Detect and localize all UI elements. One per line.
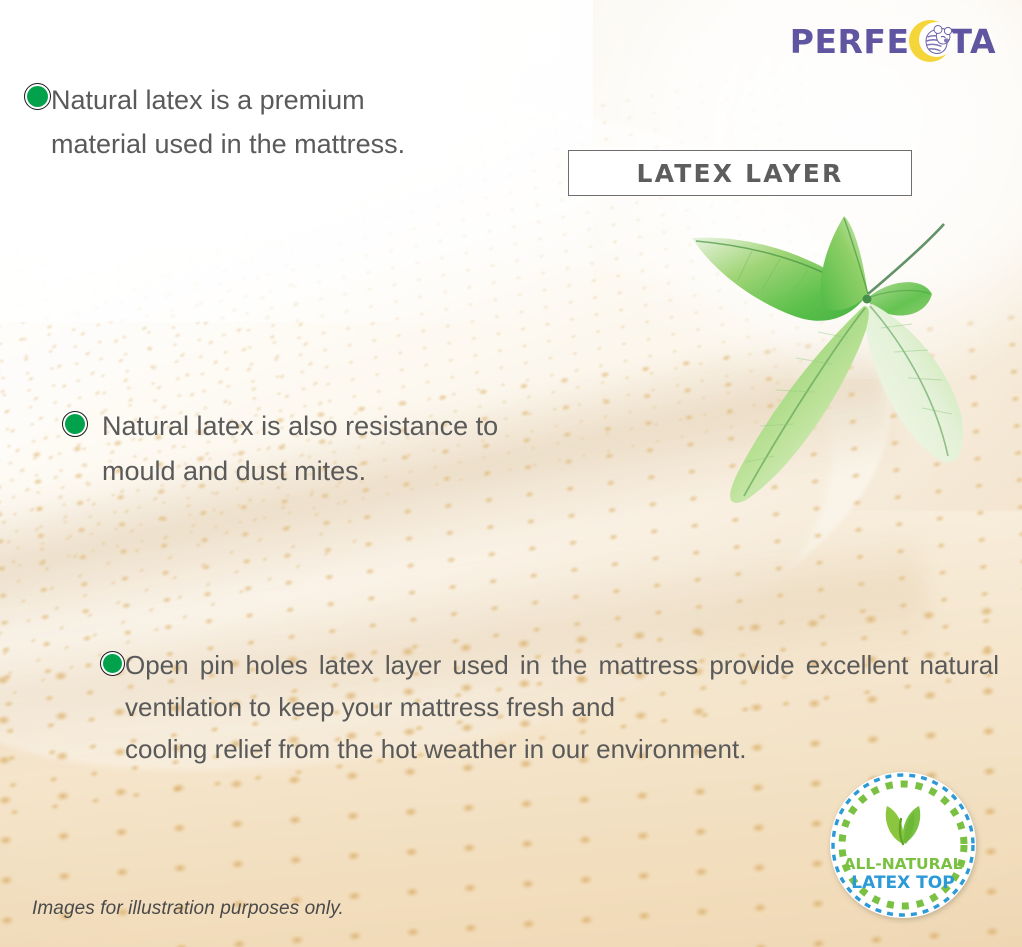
green-bullet-dot-icon <box>24 83 51 110</box>
bullet-1-line-1: Natural latex is a premium <box>51 85 365 115</box>
bullet-3-text: Open pin holes latex layer used in the m… <box>125 644 999 770</box>
all-natural-latex-top-seal-icon: ALL-NATURAL LATEX TOP <box>824 766 982 924</box>
bullet-item-1: Natural latex is a premiummaterial used … <box>24 78 504 166</box>
latex-layer-title-box: LATEX LAYER <box>568 150 912 196</box>
page-title: LATEX LAYER <box>637 159 844 188</box>
crescent-moon-sleeping-koala-icon <box>907 18 953 64</box>
latex-layer-infographic: PERFE <box>0 0 1022 947</box>
logo-text-left: PERFE <box>790 25 910 58</box>
green-bullet-dot-icon <box>62 411 88 437</box>
bullet-item-2: Natural latex is also resistance tomould… <box>62 404 612 494</box>
bullet-3-line-1: Open pin holes latex layer used in the m… <box>125 650 795 680</box>
bullet-2-line-2: mould and dust mites. <box>102 449 600 494</box>
green-bullet-dot-icon <box>100 651 125 676</box>
bullet-2-text: Natural latex is also resistance tomould… <box>102 404 600 494</box>
bullet-3-line-3: cooling relief from the hot weather in o… <box>125 728 999 770</box>
bullet-2-line-1: Natural latex is also resistance to <box>102 411 498 441</box>
bullet-item-3: Open pin holes latex layer used in the m… <box>100 644 1002 770</box>
bullet-1-text: Natural latex is a premiummaterial used … <box>51 78 503 166</box>
badge-line-2: LATEX TOP <box>851 873 954 893</box>
badge-line-1: ALL-NATURAL <box>844 855 963 873</box>
disclaimer-text: Images for illustration purposes only. <box>32 898 344 920</box>
bullet-1-line-2: material used in the mattress. <box>51 122 503 166</box>
perfecta-logo: PERFE <box>790 18 996 64</box>
logo-text-right: TA <box>950 25 997 58</box>
